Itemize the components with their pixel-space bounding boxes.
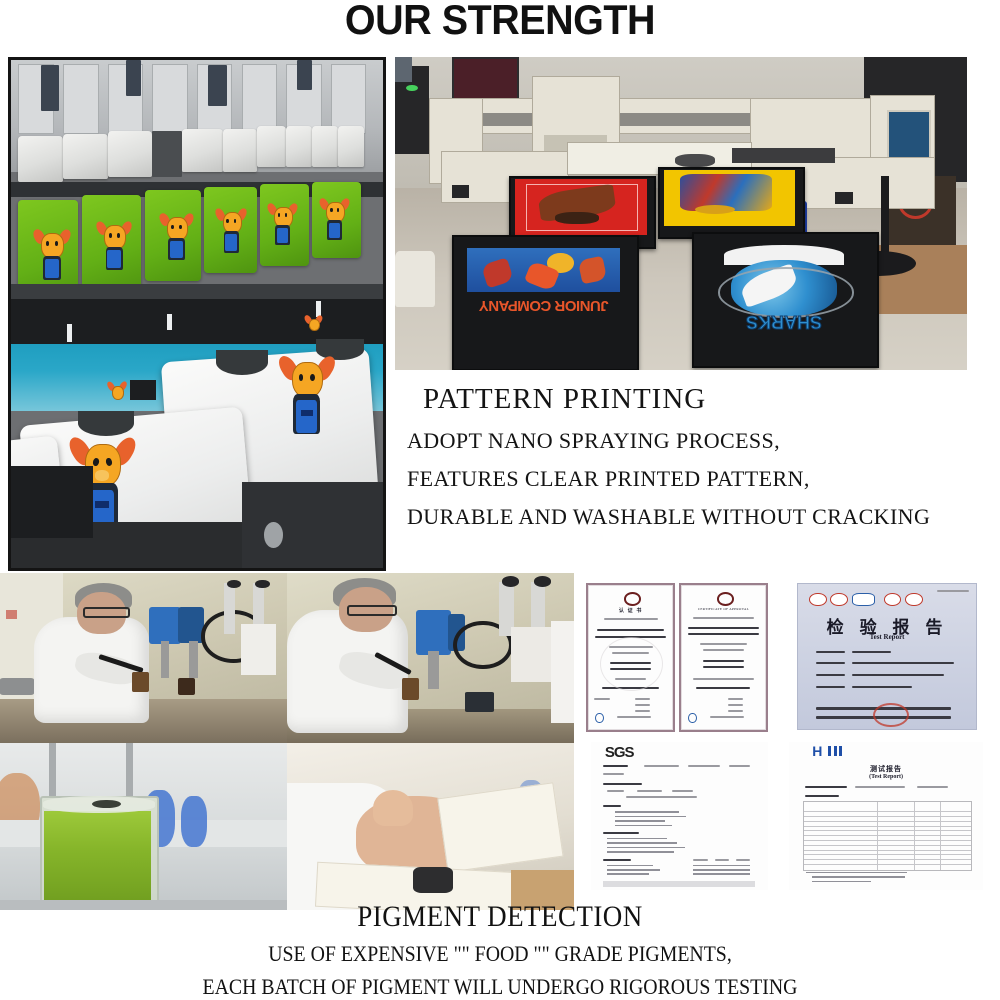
certificate-iso-en: CERTIFICATE OF APPROVAL [679,583,767,732]
photo-dtg-printer: JUNIOR COMPANY SHARKS [395,57,967,370]
printed-tshirt-yellow [664,170,796,226]
pigment-detection-line-1: USE OF EXPENSIVE "" FOOD "" GRADE PIGMEN… [50,941,950,967]
certificate-test-report-cn: 检 验 报 告 Test Report [797,583,976,730]
printed-tshirt-red [515,179,647,235]
pattern-printing-heading: PATTERN PRINTING [395,383,995,416]
pattern-printing-line-3: DURABLE AND WASHABLE WITHOUT CRACKING [395,504,995,530]
lab-report-title-en: (Test Report) [789,774,983,780]
bull-mascot-icon [320,197,350,243]
photo-screen-print-conveyor [8,57,386,571]
certificate-title-cn: 认 证 书 [588,607,672,614]
bull-mascot-icon [97,220,132,273]
bull-mascot-icon [305,314,322,339]
lab-report-title-cn: 测试报告 [789,764,983,774]
certificate-lab-report: H 测试报告 (Test Report) [789,742,983,890]
page-root: OUR STRENGTH [0,0,1000,1000]
bull-mascot-icon [216,207,248,255]
photo-hand-test-sheet [287,743,574,910]
shirt-print-label: SHARKS [701,311,867,332]
printed-tshirt-sharks: SHARKS [701,235,867,357]
bull-mascot-icon [33,228,70,284]
pigment-detection-heading: PIGMENT DETECTION [50,900,950,934]
sgs-logo: SGS [605,744,634,761]
pattern-printing-line-2: FEATURES CLEAR PRINTED PATTERN, [395,466,995,492]
bull-mascot-icon [283,355,331,441]
pattern-printing-line-1: ADOPT NANO SPRAYING PROCESS, [395,428,995,454]
photo-certificates-panel: 认 证 书 CERTIFICATE OF APPROVAL [578,573,1000,910]
section-pigment-detection: PIGMENT DETECTION USE OF EXPENSIVE "" FO… [0,900,1000,1000]
shirt-print-label: JUNIOR COMPANY [461,297,627,313]
photo-lab-chemist-right [287,573,574,743]
bull-mascot-icon [108,380,127,410]
page-title: OUR STRENGTH [30,0,970,44]
lab-report-table [803,801,972,871]
certificate-sgs-report: SGS [591,742,768,890]
bull-mascot-icon [268,202,298,248]
certificate-title-en: CERTIFICATE OF APPROVAL [681,607,765,611]
photo-lab-chemist-left [0,573,287,743]
h-logo: H [812,743,822,759]
photo-pigment-beaker [0,743,287,910]
test-report-title-en: Test Report [798,633,975,641]
bull-mascot-icon [160,212,193,263]
pigment-detection-line-2: EACH BATCH OF PIGMENT WILL UNDERGO RIGOR… [50,974,950,1000]
certificate-iso-cn: 认 证 书 [586,583,674,732]
section-pattern-printing: PATTERN PRINTING ADOPT NANO SPRAYING PRO… [395,383,995,530]
printed-tshirt-junior-company: JUNIOR COMPANY [461,239,627,361]
